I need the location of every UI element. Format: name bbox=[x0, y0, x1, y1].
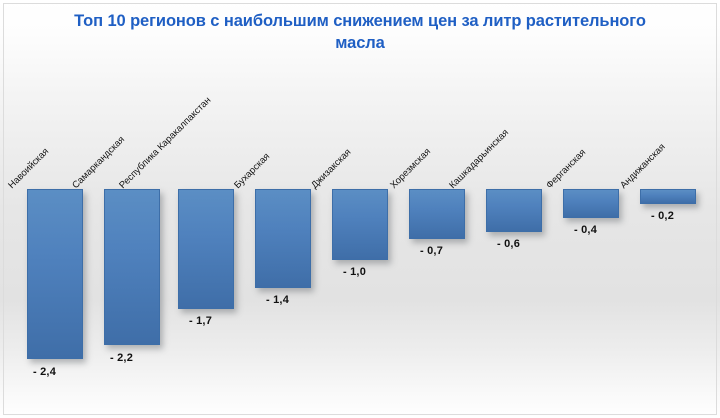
category-label: Хорезмская bbox=[388, 146, 433, 191]
category-label: Бухарская bbox=[232, 151, 272, 191]
value-label: - 0,6 bbox=[497, 238, 520, 250]
category-label: Кашкадарьинская bbox=[447, 127, 511, 191]
value-label: - 1,0 bbox=[343, 266, 366, 278]
bar[interactable] bbox=[563, 189, 619, 218]
bar[interactable] bbox=[332, 189, 388, 260]
bar[interactable] bbox=[178, 189, 234, 309]
bar[interactable] bbox=[27, 189, 83, 359]
value-label: - 2,4 bbox=[33, 366, 56, 378]
value-label: - 0,4 bbox=[574, 224, 597, 236]
value-label: - 1,4 bbox=[266, 294, 289, 306]
bar[interactable] bbox=[255, 189, 311, 288]
plot-area: НавоийскаяСамаркандскаяРеспублика Карака… bbox=[0, 0, 720, 418]
category-label: Андижанская bbox=[618, 142, 667, 191]
category-label: Навоийская bbox=[6, 146, 51, 191]
bar[interactable] bbox=[104, 189, 160, 345]
value-label: - 0,7 bbox=[420, 245, 443, 257]
category-label: Ферганская bbox=[544, 147, 588, 191]
chart-container: Топ 10 регионов с наибольшим снижением ц… bbox=[0, 0, 720, 418]
category-label: Джизакская bbox=[309, 147, 353, 191]
category-label: Республика Каракалпакстан bbox=[117, 95, 213, 191]
bar[interactable] bbox=[486, 189, 542, 232]
bar[interactable] bbox=[640, 189, 696, 204]
bar[interactable] bbox=[409, 189, 465, 239]
value-label: - 2,2 bbox=[110, 352, 133, 364]
value-label: - 0,2 bbox=[651, 210, 674, 222]
value-label: - 1,7 bbox=[189, 315, 212, 327]
